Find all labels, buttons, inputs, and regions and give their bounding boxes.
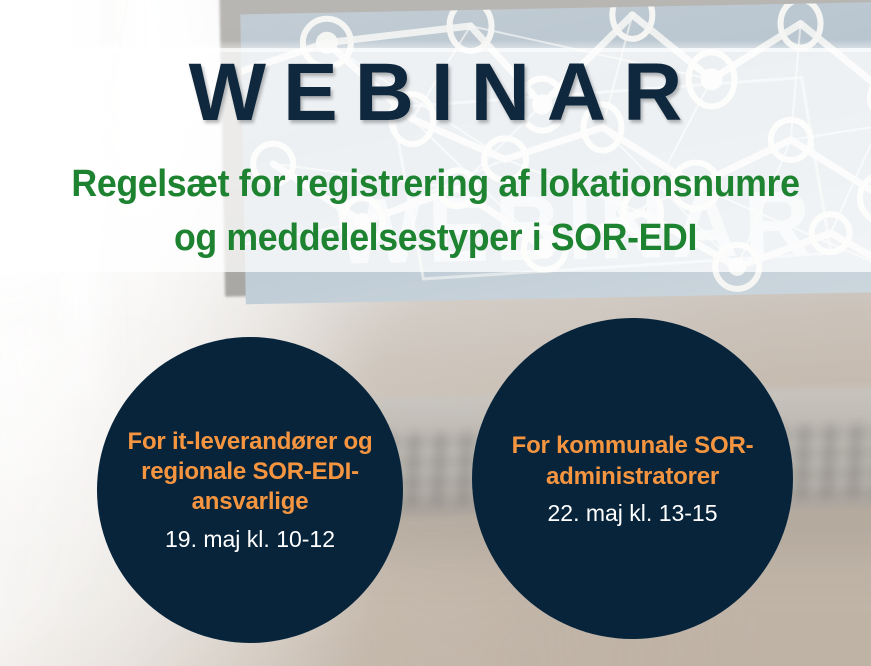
webinar-poster: WEBINAR (0, 0, 871, 666)
session-audience-left: For it-leverandører og regionale SOR-EDI… (119, 427, 381, 517)
session-audience-right: For kommunale SOR-administratorer (498, 430, 767, 492)
page-title: WEBINAR (0, 50, 871, 136)
subtitle-line-2: og meddelelsestyper i SOR-EDI (26, 211, 845, 265)
session-time-right: 22. maj kl. 13-15 (547, 498, 717, 528)
session-circle-right: For kommunale SOR-administratorer 22. ma… (472, 318, 793, 639)
poster-subtitle: Regelsæt for registrering af lokationsnu… (26, 157, 845, 265)
subtitle-line-1: Regelsæt for registrering af lokationsnu… (71, 163, 799, 205)
session-time-left: 19. maj kl. 10-12 (165, 524, 335, 554)
session-circle-left: For it-leverandører og regionale SOR-EDI… (97, 337, 403, 643)
poster-content: WEBINAR Regelsæt for registrering af lok… (0, 0, 871, 666)
